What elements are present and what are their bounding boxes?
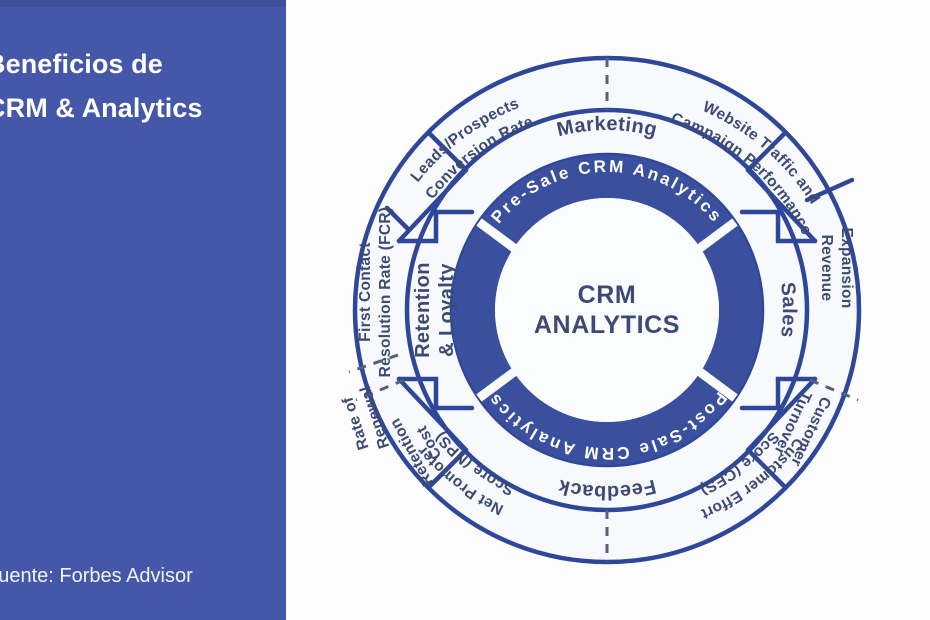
page-title-line2: CRM & Analytics: [0, 86, 286, 130]
sidebar-top-strip: [0, 0, 286, 7]
sidebar-panel: Beneficios de CRM & Analytics Fuente: Fo…: [0, 0, 286, 620]
retention-line1: Retention: [412, 262, 434, 358]
source-attribution: Fuente: Forbes Advisor: [0, 563, 286, 589]
expansion-line2: Revenue: [818, 235, 835, 302]
diagram-svg: Pre-Sale CRM Analytics Post-Sale CRM Ana…: [286, 0, 930, 620]
core-title-line2: ANALYTICS: [534, 311, 680, 339]
page-title: Beneficios de CRM & Analytics: [0, 42, 286, 130]
retention-line2: & Loyalty: [436, 263, 458, 357]
page-title-line1: Beneficios de: [0, 42, 286, 86]
expansion-line1: Expansion: [838, 227, 855, 308]
core-title-line1: CRM: [578, 281, 637, 309]
middle-ring-label-sales: Sales: [776, 281, 800, 339]
crm-analytics-diagram: Pre-Sale CRM Analytics Post-Sale CRM Ana…: [286, 0, 930, 620]
fcr-line2: Resolution Rate (FCR): [377, 207, 394, 378]
core-disc: [495, 198, 719, 422]
slide-root: Beneficios de CRM & Analytics Fuente: Fo…: [0, 0, 930, 620]
fcr-line1: First Contact: [357, 242, 374, 342]
